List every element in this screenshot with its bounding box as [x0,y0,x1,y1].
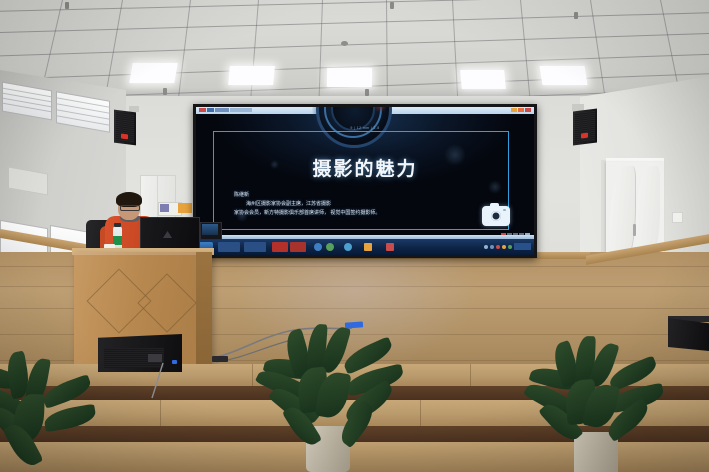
image-vignette [0,0,709,472]
lecture-hall-photo: 9 | 12 mm | 2.8 摄影的魅力 陈继新 海州区摄影家协会副主席，江苏… [0,0,709,472]
